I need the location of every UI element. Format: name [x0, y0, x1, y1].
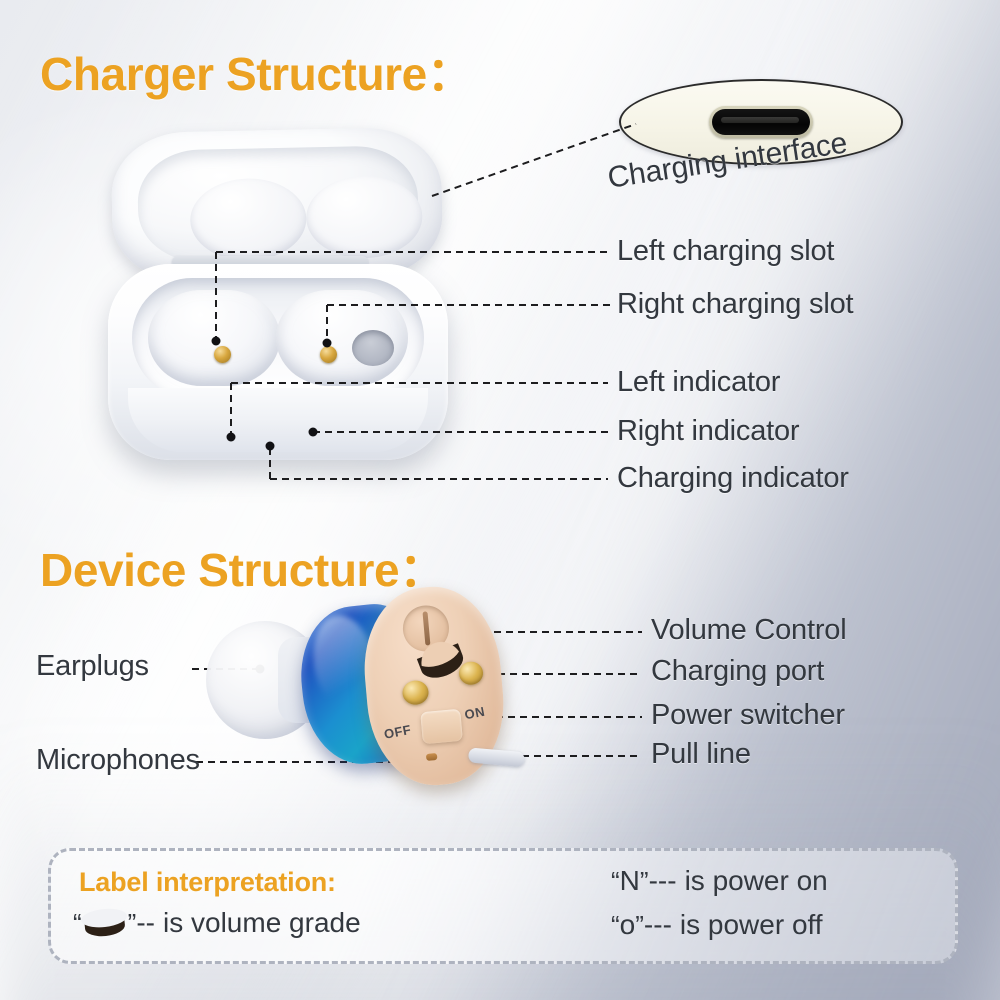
legend-volume-grade: “ ” -- is volume grade — [73, 907, 361, 939]
left-charging-slot-cavity — [148, 290, 280, 386]
label-earplugs: Earplugs — [36, 650, 149, 683]
label-left-indicator: Left indicator — [617, 366, 780, 399]
case-front-face — [128, 388, 428, 452]
volume-grade-icon — [84, 916, 126, 938]
legend-off-dashes: --- — [644, 909, 672, 941]
label-power-switcher: Power switcher — [651, 699, 845, 732]
case-lid-bump-left — [189, 177, 307, 261]
legend-volume-dashes: -- — [136, 907, 155, 939]
case-lid-bump-right — [305, 175, 423, 259]
label-pull-line: Pull line — [651, 738, 751, 771]
infographic-canvas: Charger Structure： Device Structure： — [0, 0, 1000, 1000]
left-charging-pin — [214, 346, 231, 363]
legend-title: Label interpretation: — [79, 867, 336, 898]
switch-label-off: OFF — [383, 722, 413, 742]
label-microphones: Microphones — [36, 744, 200, 777]
label-charging-port: Charging port — [651, 655, 824, 688]
legend-volume-text: is volume grade — [163, 907, 361, 939]
label-volume-control: Volume Control — [651, 614, 846, 647]
gold-contact-lower — [402, 680, 430, 706]
usb-c-port-tongue — [721, 117, 799, 123]
legend-power-off: “ o ” --- is power off — [611, 909, 823, 941]
case-body — [108, 264, 448, 460]
usb-c-port-opening — [712, 109, 810, 135]
charger-section-title: Charger Structure： — [40, 38, 472, 104]
label-left-charging-slot: Left charging slot — [617, 235, 834, 268]
hearing-aid-illustration: OFF ON — [206, 585, 506, 800]
case-lid-inner — [137, 145, 419, 263]
legend-on-text: is power on — [685, 865, 828, 897]
label-right-charging-slot: Right charging slot — [617, 288, 853, 321]
label-interpretation-box: Label interpretation: “ ” -- is volume g… — [48, 848, 958, 964]
legend-power-on: “ N ” --- is power on — [611, 865, 828, 897]
legend-on-symbol: N — [620, 865, 640, 897]
legend-off-symbol: o — [620, 909, 636, 941]
switch-label-on: ON — [463, 704, 486, 723]
case-well — [132, 278, 424, 398]
microphone-port — [426, 753, 438, 761]
legend-on-dashes: --- — [649, 865, 677, 897]
label-charging-indicator: Charging indicator — [617, 462, 849, 495]
right-charging-pin — [320, 346, 337, 363]
power-switcher — [420, 709, 463, 744]
legend-off-text: is power off — [680, 909, 823, 941]
charging-port-contact — [458, 661, 484, 686]
charging-case-illustration — [104, 128, 454, 478]
right-cavity-hole — [352, 330, 394, 366]
right-charging-slot-cavity — [276, 290, 408, 386]
label-right-indicator: Right indicator — [617, 415, 799, 448]
